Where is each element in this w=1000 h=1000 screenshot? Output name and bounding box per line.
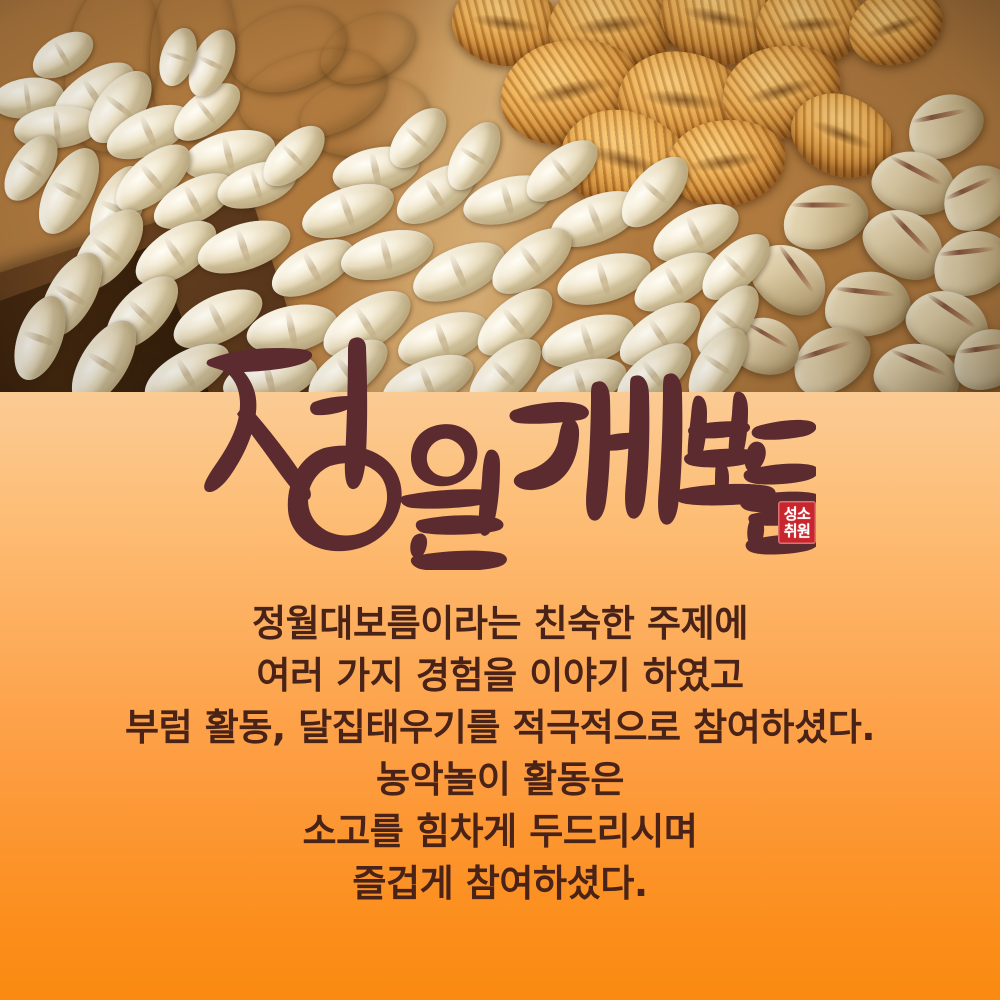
body-line-4: 농악놀이 활동은 xyxy=(0,754,1000,806)
body-line-6: 즐겁게 참여하셨다. xyxy=(0,858,1000,910)
body-line-1: 정월대보름이라는 친숙한 주제에 xyxy=(0,598,1000,650)
seal-line-2: 취원 xyxy=(784,523,811,540)
body-text-block: 정월대보름이라는 친숙한 주제에 여러 가지 경험을 이야기 하였고 부럼 활동… xyxy=(0,598,1000,910)
poster-card: 성소 취원 정월대보름이라는 친숙한 주제에 여러 가지 경험을 이야기 하였고… xyxy=(0,0,1000,1000)
seal-stamp: 성소 취원 xyxy=(778,501,816,544)
body-line-3: 부럼 활동, 달집태우기를 적극적으로 참여하셨다. xyxy=(0,702,1000,754)
body-line-5: 소고를 힘차게 두드리시며 xyxy=(0,806,1000,858)
seal-line-1: 성소 xyxy=(784,506,811,523)
nuts-photo xyxy=(0,0,1000,392)
body-line-2: 여러 가지 경험을 이야기 하였고 xyxy=(0,650,1000,702)
